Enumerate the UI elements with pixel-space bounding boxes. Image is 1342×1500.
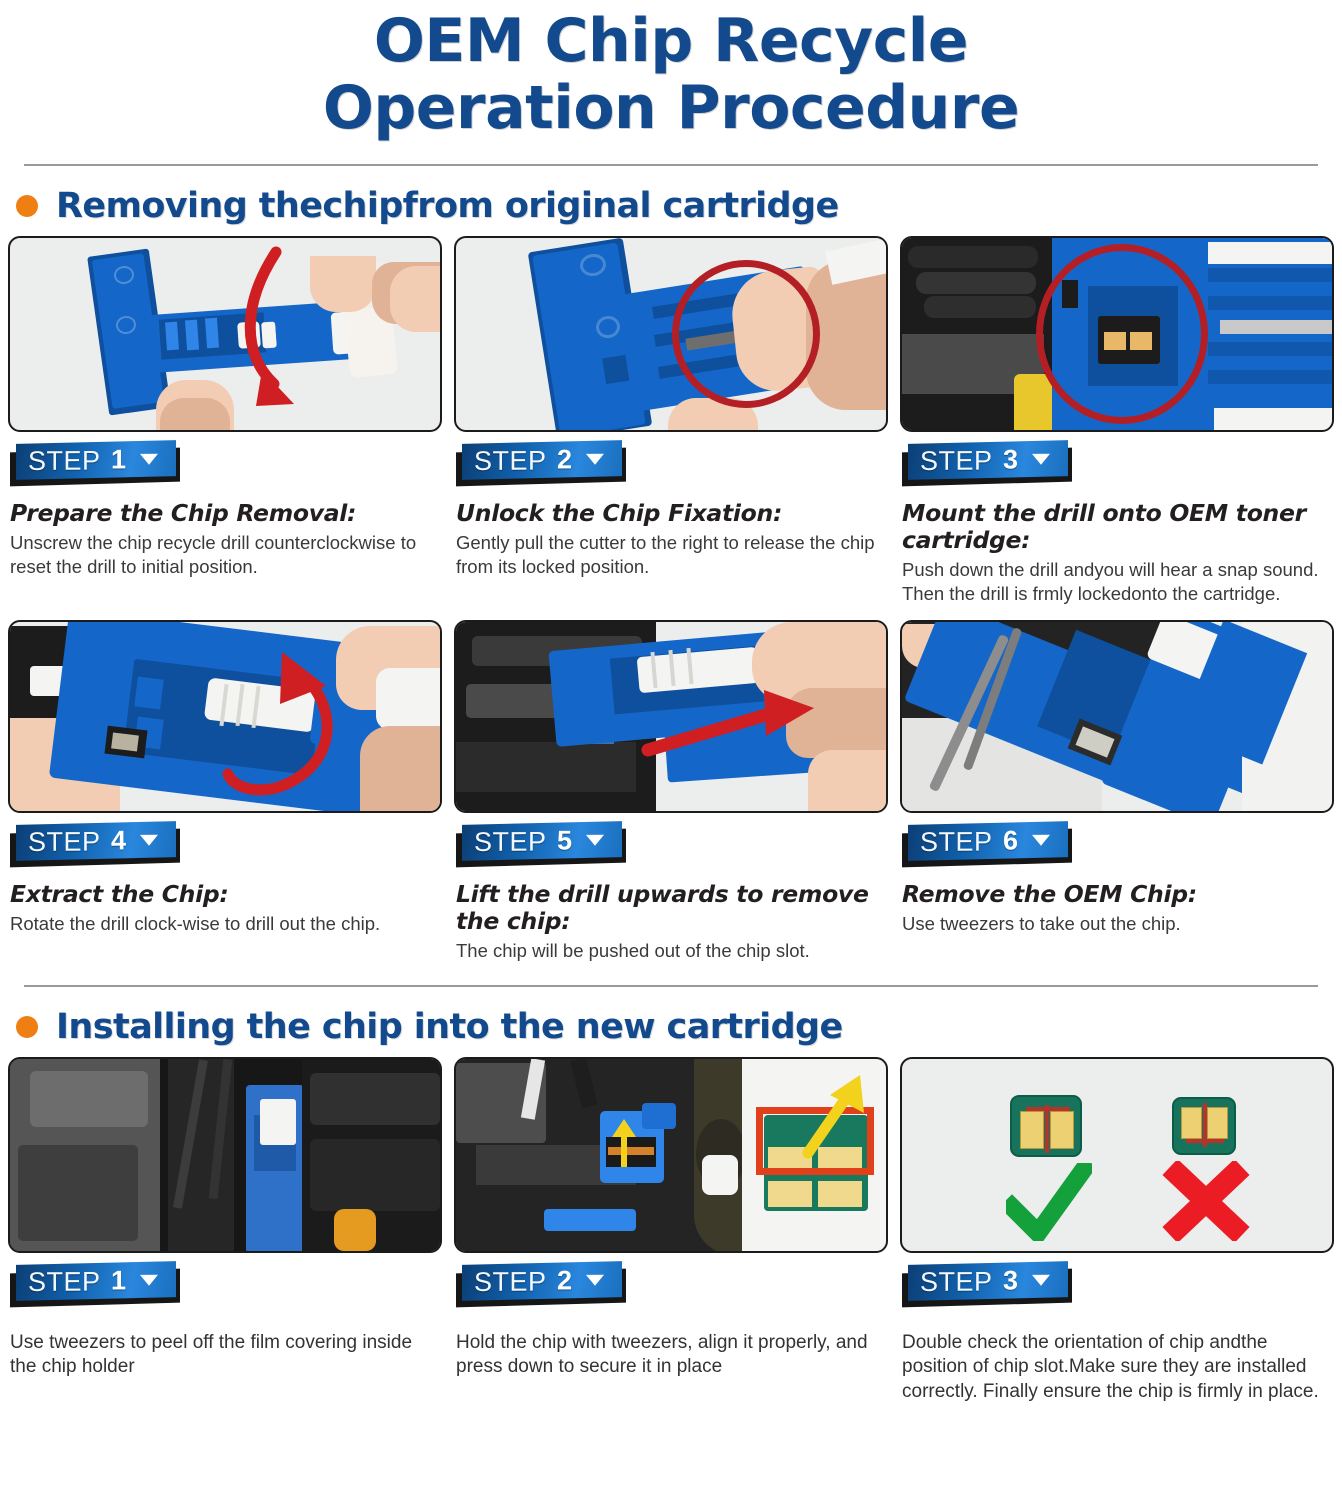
chevron-down-icon	[1032, 454, 1050, 465]
badge-label: STEP	[474, 1266, 547, 1298]
chip-orientation-incorrect-icon	[1172, 1097, 1236, 1155]
step-badge-1: STEP 1	[10, 442, 442, 488]
badge-label: STEP	[920, 1266, 993, 1298]
step-body-5: The chip will be pushed out of the chip …	[456, 939, 888, 963]
steps-grid-installing: STEP 1 Use tweezers to peel off the film…	[8, 1057, 1334, 1405]
step-image-4	[8, 620, 442, 813]
red-curved-arrow-icon	[210, 642, 370, 813]
step-cell-6: STEP 6 Remove the OEM Chip: Use tweezers…	[900, 620, 1334, 963]
badge-number: 2	[557, 1265, 572, 1296]
badge-label: STEP	[28, 445, 101, 477]
badge-number: 1	[111, 444, 126, 475]
badge-body: STEP 2	[462, 1261, 622, 1301]
section-title-removing: Removing thechipfrom original cartridge	[56, 186, 839, 226]
step-cell-5: STEP 5 Lift the drill upwards to remove …	[454, 620, 888, 963]
badge-body: STEP 1	[16, 1261, 176, 1301]
badge-number: 2	[557, 444, 572, 475]
install-step-image-1	[8, 1057, 442, 1253]
page-title-line-2: Operation Procedure	[8, 75, 1334, 142]
step-image-3	[900, 236, 1334, 432]
install-step-body-1: Use tweezers to peel off the film coveri…	[10, 1331, 442, 1380]
badge-body: STEP 2	[462, 441, 622, 481]
badge-number: 6	[1003, 825, 1018, 856]
step-image-1	[8, 236, 442, 432]
step-title-5: Lift the drill upwards to remove the chi…	[456, 881, 888, 935]
red-arrow-up-right-icon	[636, 688, 826, 778]
section-title-installing: Installing the chip into the new cartrid…	[56, 1007, 843, 1047]
red-cross-icon	[1160, 1161, 1252, 1241]
badge-body: STEP 6	[908, 821, 1068, 861]
badge-label: STEP	[474, 445, 547, 477]
page-title: OEM Chip Recycle Operation Procedure	[8, 0, 1334, 146]
badge-label: STEP	[28, 826, 101, 858]
badge-number: 3	[1003, 1265, 1018, 1296]
red-circle-highlight-icon	[1036, 244, 1208, 424]
step-image-2	[454, 236, 888, 432]
install-step-badge-2: STEP 2	[456, 1263, 888, 1309]
badge-body: STEP 3	[908, 441, 1068, 481]
install-step-badge-3: STEP 3	[902, 1263, 1334, 1309]
step-cell-4: STEP 4 Extract the Chip: Rotate the dril…	[8, 620, 442, 963]
install-step-cell-2: STEP 2 Hold the chip with tweezers, alig…	[454, 1057, 888, 1405]
small-yellow-arrow-icon	[606, 1117, 646, 1173]
step-title-6: Remove the OEM Chip:	[902, 881, 1334, 908]
step-body-6: Use tweezers to take out the chip.	[902, 912, 1334, 936]
badge-number: 5	[557, 825, 572, 856]
steps-grid-removing-row-2: STEP 4 Extract the Chip: Rotate the dril…	[8, 620, 1334, 963]
chevron-down-icon	[140, 454, 158, 465]
green-check-icon	[1006, 1163, 1092, 1241]
step-badge-5: STEP 5	[456, 823, 888, 869]
step-cell-3: STEP 3 Mount the drill onto OEM toner ca…	[900, 236, 1334, 606]
badge-body: STEP 3	[908, 1261, 1068, 1301]
chevron-down-icon	[1032, 1274, 1050, 1285]
step-title-4: Extract the Chip:	[10, 881, 442, 908]
chevron-down-icon	[586, 454, 604, 465]
step-image-5	[454, 620, 888, 813]
steps-grid-removing-row-1: STEP 1 Prepare the Chip Removal: Unscrew…	[8, 236, 1334, 606]
install-step-image-3	[900, 1057, 1334, 1253]
page-title-line-1: OEM Chip Recycle	[8, 8, 1334, 75]
badge-number: 3	[1003, 444, 1018, 475]
step-image-6	[900, 620, 1334, 813]
red-circle-highlight-icon	[672, 260, 820, 408]
install-step-cell-3: STEP 3 Double check the orientation of c…	[900, 1057, 1334, 1405]
badge-body: STEP 4	[16, 821, 176, 861]
badge-label: STEP	[474, 826, 547, 858]
chevron-down-icon	[1032, 834, 1050, 845]
bullet-dot-icon	[16, 1016, 38, 1038]
chevron-down-icon	[586, 1274, 604, 1285]
step-body-3: Push down the drill andyou will hear a s…	[902, 558, 1334, 606]
infographic-page: OEM Chip Recycle Operation Procedure Rem…	[0, 0, 1342, 1500]
section-header-installing: Installing the chip into the new cartrid…	[8, 987, 1334, 1057]
chevron-down-icon	[140, 834, 158, 845]
badge-number: 1	[111, 1265, 126, 1296]
step-badge-4: STEP 4	[10, 823, 442, 869]
install-step-image-2	[454, 1057, 888, 1253]
badge-label: STEP	[920, 826, 993, 858]
step-body-2: Gently pull the cutter to the right to r…	[456, 531, 888, 579]
bullet-dot-icon	[16, 195, 38, 217]
step-badge-2: STEP 2	[456, 442, 888, 488]
step-title-2: Unlock the Chip Fixation:	[456, 500, 888, 527]
step-title-3: Mount the drill onto OEM toner cartridge…	[902, 500, 1334, 554]
install-step-badge-1: STEP 1	[10, 1263, 442, 1309]
section-header-removing: Removing thechipfrom original cartridge	[8, 166, 1334, 236]
badge-body: STEP 5	[462, 821, 622, 861]
chip-orientation-correct-icon	[1010, 1095, 1082, 1157]
yellow-arrow-up-icon	[786, 1073, 876, 1159]
step-body-4: Rotate the drill clock-wise to drill out…	[10, 912, 442, 936]
install-step-body-3: Double check the orientation of chip and…	[902, 1331, 1334, 1405]
step-cell-2: STEP 2 Unlock the Chip Fixation: Gently …	[454, 236, 888, 606]
step-body-1: Unscrew the chip recycle drill countercl…	[10, 531, 442, 579]
badge-label: STEP	[920, 445, 993, 477]
badge-label: STEP	[28, 1266, 101, 1298]
badge-body: STEP 1	[16, 441, 176, 481]
red-curved-arrow-icon	[232, 244, 352, 424]
badge-number: 4	[111, 825, 126, 856]
chevron-down-icon	[140, 1274, 158, 1285]
step-badge-6: STEP 6	[902, 823, 1334, 869]
step-title-1: Prepare the Chip Removal:	[10, 500, 442, 527]
step-badge-3: STEP 3	[902, 442, 1334, 488]
step-cell-1: STEP 1 Prepare the Chip Removal: Unscrew…	[8, 236, 442, 606]
install-step-cell-1: STEP 1 Use tweezers to peel off the film…	[8, 1057, 442, 1405]
chevron-down-icon	[586, 834, 604, 845]
install-step-body-2: Hold the chip with tweezers, align it pr…	[456, 1331, 888, 1380]
